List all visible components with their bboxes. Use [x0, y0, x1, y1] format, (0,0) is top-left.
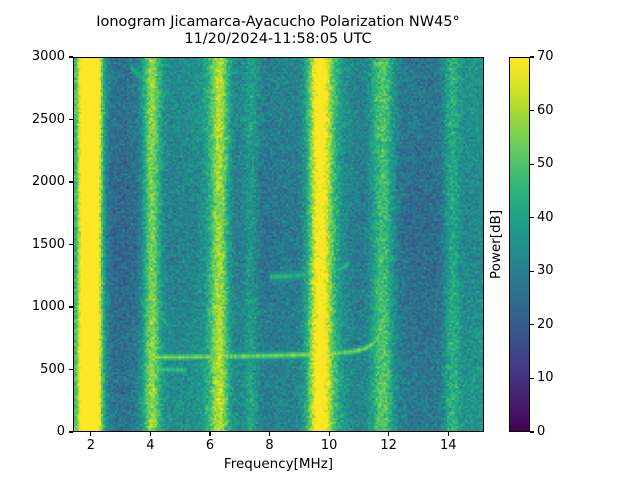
y-axis-tick: [69, 369, 73, 370]
x-axis-tick: [150, 432, 151, 436]
y-axis-tick: [69, 56, 73, 57]
colorbar-tick-label: 20: [537, 317, 554, 332]
x-axis-tick-label: 2: [61, 438, 121, 453]
ionogram-heatmap: [74, 58, 483, 431]
colorbar-gradient: [510, 58, 529, 431]
colorbar-tick: [530, 378, 534, 379]
chart-title-line-2: 11/20/2024-11:58:05 UTC: [0, 31, 556, 48]
y-axis-tick-label: 1500: [5, 237, 65, 252]
x-axis-tick-label: 10: [299, 438, 359, 453]
colorbar-tick-label: 60: [537, 103, 554, 118]
colorbar-tick: [530, 217, 534, 218]
y-axis-tick: [69, 306, 73, 307]
colorbar-tick: [530, 164, 534, 165]
y-axis-tick: [69, 119, 73, 120]
x-axis-tick-label: 14: [418, 438, 478, 453]
colorbar-tick: [530, 324, 534, 325]
colorbar-tick-label: 70: [537, 49, 554, 64]
y-axis-tick: [69, 244, 73, 245]
colorbar-label: Power[dB]: [488, 57, 504, 432]
colorbar-tick-label: 0: [537, 424, 545, 439]
colorbar: [509, 57, 530, 432]
x-axis-tick: [448, 432, 449, 436]
x-axis-tick: [388, 432, 389, 436]
y-axis-tick-label: 3000: [5, 49, 65, 64]
y-axis-tick-label: 0: [5, 424, 65, 439]
colorbar-tick-label: 30: [537, 263, 554, 278]
colorbar-tick: [530, 56, 534, 57]
colorbar-tick-label: 50: [537, 156, 554, 171]
x-axis-tick: [269, 432, 270, 436]
colorbar-tick-label: 40: [537, 210, 554, 225]
x-axis-tick-label: 12: [359, 438, 419, 453]
chart-title-line-1: Ionogram Jicamarca-Ayacucho Polarization…: [0, 14, 556, 31]
x-axis-tick: [329, 432, 330, 436]
y-axis-tick: [69, 431, 73, 432]
colorbar-tick-label: 10: [537, 370, 554, 385]
x-axis-tick-label: 6: [180, 438, 240, 453]
y-axis-tick-label: 500: [5, 362, 65, 377]
x-axis-tick: [209, 432, 210, 436]
chart-title: Ionogram Jicamarca-Ayacucho Polarization…: [0, 14, 556, 48]
colorbar-tick: [530, 271, 534, 272]
x-axis-tick: [90, 432, 91, 436]
colorbar-tick: [530, 431, 534, 432]
x-axis-label: Frequency[MHz]: [73, 456, 484, 472]
x-axis-tick-label: 4: [120, 438, 180, 453]
ionogram-plot-area: [73, 57, 484, 432]
y-axis-tick-label: 2500: [5, 112, 65, 127]
y-axis-tick-label: 2000: [5, 174, 65, 189]
colorbar-tick: [530, 110, 534, 111]
y-axis-tick: [69, 181, 73, 182]
x-axis-tick-label: 8: [240, 438, 300, 453]
y-axis-tick-label: 1000: [5, 299, 65, 314]
